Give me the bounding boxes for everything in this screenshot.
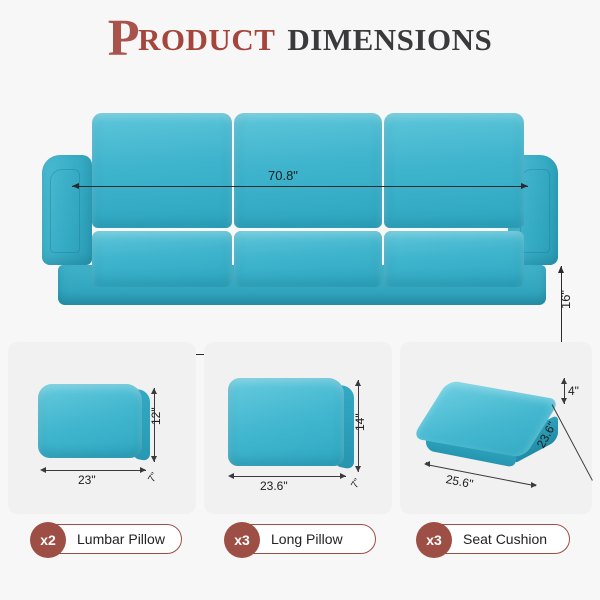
sofa-illustration bbox=[30, 113, 570, 308]
page-title: PRODUCTDIMENSIONS bbox=[0, 14, 600, 58]
legend-count-badge-long: x3 bbox=[224, 522, 260, 558]
long-width-label: 23.6" bbox=[260, 479, 288, 493]
legend-item-lumbar-pillow[interactable]: x2 Lumbar Pillow bbox=[32, 524, 182, 554]
sofa-width-arrow-left-icon bbox=[72, 183, 79, 189]
seat-height-label: 4" bbox=[568, 384, 579, 398]
lumbar-pillow-front-face bbox=[38, 384, 142, 458]
seat-width-arrow-right-icon bbox=[531, 482, 537, 488]
sofa-arm-left bbox=[42, 155, 92, 265]
legend-label-lumbar: Lumbar Pillow bbox=[77, 531, 165, 547]
legend: x2 Lumbar Pillow x3 Long Pillow x3 Seat … bbox=[0, 524, 600, 562]
legend-item-long-pillow[interactable]: x3 Long Pillow bbox=[226, 524, 376, 554]
sofa-height-arrow-top-icon bbox=[558, 266, 564, 273]
sofa-back-cushion-3 bbox=[384, 113, 524, 228]
long-height-arrow-bottom-icon bbox=[355, 466, 361, 472]
long-height-arrow-top-icon bbox=[355, 380, 361, 386]
legend-label-seat: Seat Cushion bbox=[463, 531, 547, 547]
sofa-back-cushion-2 bbox=[234, 113, 382, 228]
seat-height-arrow-bottom-icon bbox=[561, 398, 567, 404]
lumbar-height-arrow-bottom-icon bbox=[151, 456, 157, 462]
sofa-arm-left-seam bbox=[50, 169, 80, 253]
lumbar-height-dimension-line bbox=[154, 388, 155, 462]
lumbar-width-arrow-left-icon bbox=[40, 467, 46, 473]
panel-long-pillow: 14" 23.6" 7" bbox=[204, 342, 392, 514]
product-dimensions-infographic: PRODUCTDIMENSIONS 70.8" 16" bbox=[0, 0, 600, 600]
sofa-seat-cushion-2 bbox=[234, 231, 382, 287]
sofa-height-label: 16" bbox=[558, 290, 573, 309]
lumbar-width-label: 23" bbox=[78, 473, 96, 487]
long-depth-label: 7" bbox=[349, 477, 363, 491]
sofa-width-dimension-line bbox=[72, 186, 528, 187]
long-width-arrow-left-icon bbox=[228, 473, 234, 479]
component-panels: 12" 23" 7" 14" 23.6" 7" bbox=[0, 342, 600, 522]
sofa-arm-right-seam bbox=[520, 169, 550, 253]
sofa-width-arrow-right-icon bbox=[521, 183, 528, 189]
sofa-back-cushion-1 bbox=[92, 113, 232, 228]
legend-label-long: Long Pillow bbox=[271, 531, 343, 547]
sofa-diagram: 70.8" 16" 25.6" bbox=[0, 78, 600, 308]
long-width-arrow-right-icon bbox=[340, 473, 346, 479]
sofa-seat-cushion-3 bbox=[384, 231, 524, 287]
long-width-dimension-line bbox=[230, 476, 346, 477]
lumbar-pillow-illustration bbox=[38, 384, 150, 466]
title-word-product: RODUCT bbox=[138, 22, 275, 58]
seat-height-arrow-top-icon bbox=[561, 378, 567, 384]
lumbar-width-arrow-right-icon bbox=[140, 467, 146, 473]
lumbar-depth-label: 7" bbox=[146, 471, 160, 485]
seat-width-arrow-left-icon bbox=[424, 461, 430, 467]
lumbar-height-arrow-top-icon bbox=[151, 388, 157, 394]
panel-lumbar-pillow: 12" 23" 7" bbox=[8, 342, 196, 514]
legend-count-badge-lumbar: x2 bbox=[30, 522, 66, 558]
legend-count-badge-seat: x3 bbox=[416, 522, 452, 558]
lumbar-height-label: 12" bbox=[149, 407, 163, 425]
panel-seat-cushion: 4" 25.6" 23.6" bbox=[400, 342, 592, 514]
legend-item-seat-cushion[interactable]: x3 Seat Cushion bbox=[418, 524, 570, 554]
lumbar-width-dimension-line bbox=[42, 470, 146, 471]
long-pillow-front-face bbox=[228, 378, 344, 466]
sofa-width-label: 70.8" bbox=[268, 168, 298, 183]
long-height-label: 14" bbox=[353, 413, 367, 431]
title-word-dimensions: DIMENSIONS bbox=[287, 22, 492, 58]
title-dropcap: P bbox=[108, 19, 140, 59]
long-pillow-illustration bbox=[228, 378, 354, 472]
sofa-seat-cushion-1 bbox=[92, 231, 232, 287]
